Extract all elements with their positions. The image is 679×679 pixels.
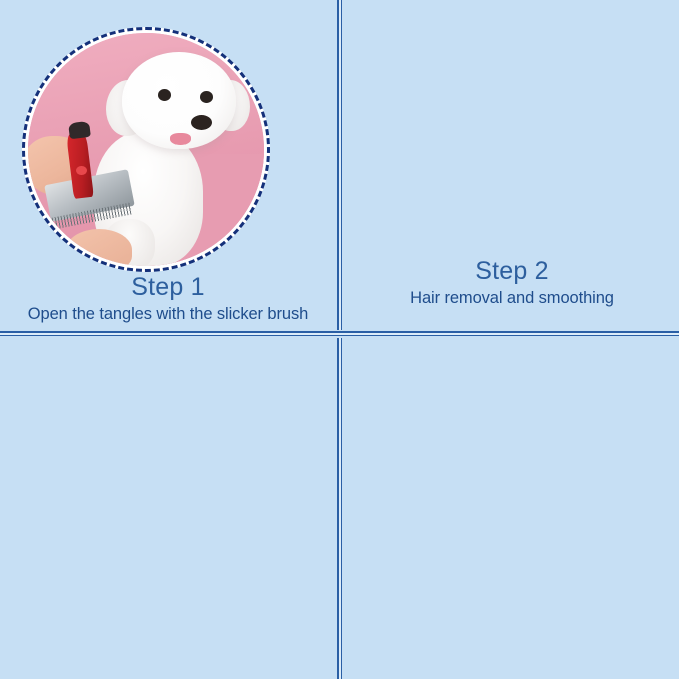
step-1-description: Open the tangles with the slicker brush [0, 302, 336, 325]
step-1-photo-inner [28, 33, 264, 266]
step-1-photo [22, 27, 270, 272]
step-2-caption: Step 2 Hair removal and smoothing [344, 256, 679, 309]
step-panel-2: Step 2 Hair removal and smoothing [344, 0, 679, 330]
grooming-steps-infographic: Step 1 Open the tangles with the slicker… [0, 0, 679, 679]
horizontal-divider [0, 330, 679, 338]
step-panel-3: Step 3 Use sparse spacing paired with sl… [0, 338, 336, 679]
bichon-grooming-illustration [28, 33, 264, 266]
step-2-title: Step 2 [344, 256, 679, 286]
step-1-title: Step 1 [0, 272, 336, 302]
step-1-caption: Step 1 Open the tangles with the slicker… [0, 272, 336, 325]
step-panel-4: Step 4 Remove remaining hair from brushe… [344, 338, 679, 679]
step-panel-1: Step 1 Open the tangles with the slicker… [0, 0, 336, 330]
vertical-divider [336, 0, 344, 679]
step-2-description: Hair removal and smoothing [344, 286, 679, 309]
